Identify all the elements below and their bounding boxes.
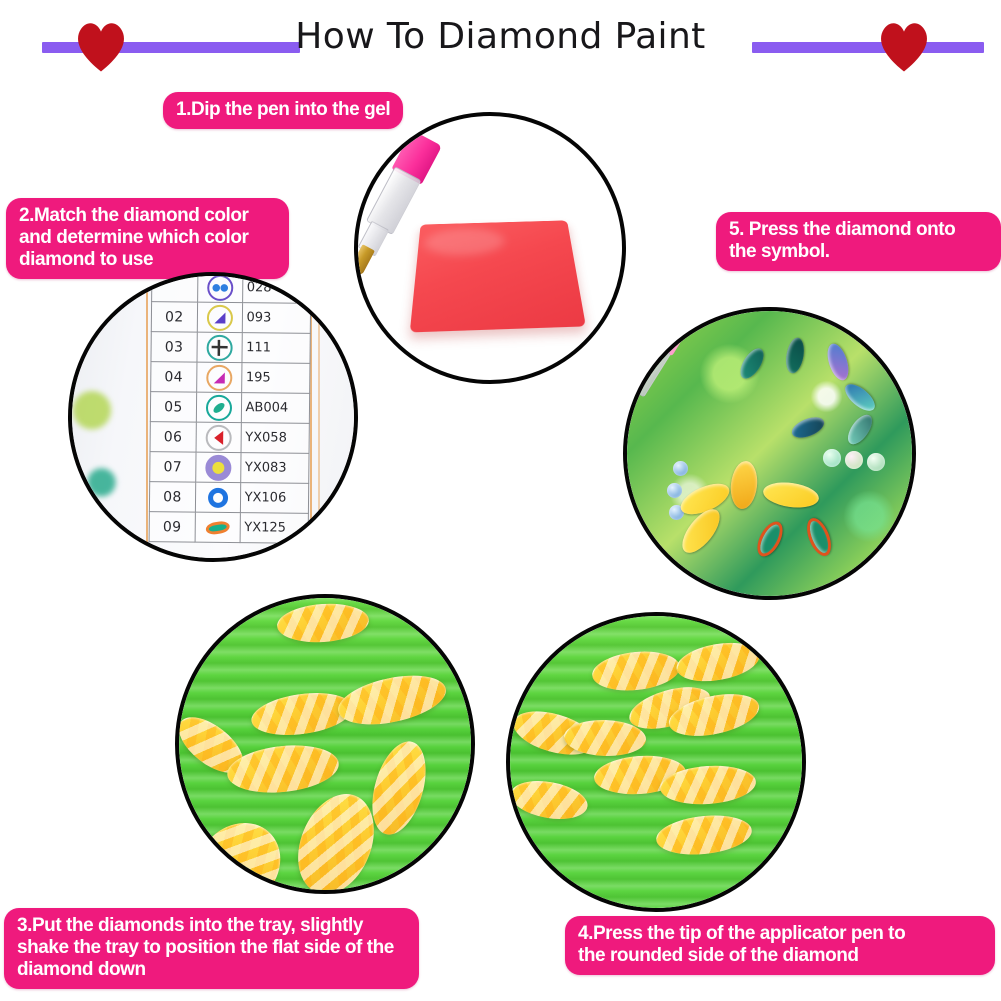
- leaf-teal-icon: [204, 514, 230, 540]
- step-2-line-3: diamond to use: [19, 249, 276, 271]
- header: How To Diamond Paint: [0, 0, 1001, 85]
- chart-number: [152, 276, 198, 302]
- step-3-label: 3.Put the diamonds into the tray, slight…: [4, 908, 419, 989]
- pen-tip: [358, 244, 375, 275]
- triangle-blue-icon: [206, 304, 232, 330]
- step-4-line-1: 4.Press the tip of the applicator pen to: [578, 923, 982, 945]
- oval-green-icon: [206, 394, 232, 420]
- diamond-color-chart-table: 028 02 093 03 111 04 19: [149, 276, 312, 544]
- step-5-photo: [623, 307, 916, 600]
- table-row: 02 093: [151, 302, 310, 334]
- chart-symbol-cell: [197, 302, 242, 332]
- chevron-red-icon: [205, 424, 231, 450]
- chart-code: YX106: [240, 483, 309, 514]
- chart-code: YX125: [240, 513, 309, 544]
- table-row: 028: [152, 276, 311, 303]
- gem-dot: [667, 483, 682, 498]
- chart-number: 05: [150, 392, 196, 422]
- plus-icon: [206, 334, 232, 360]
- chart-number: 07: [150, 452, 196, 482]
- page-title: How To Diamond Paint: [0, 16, 1001, 57]
- chart-symbol-cell: [195, 512, 240, 542]
- gem-dot: [823, 449, 841, 467]
- chart-code: 111: [242, 333, 311, 364]
- step-3-line-3: diamond down: [17, 959, 406, 981]
- ring-blue-icon: [205, 484, 231, 510]
- chart-symbol-cell: [195, 452, 240, 482]
- step-2-label: 2.Match the diamond color and determine …: [6, 198, 289, 279]
- step-2-photo: 028 02 093 03 111 04 19: [68, 272, 358, 562]
- step-1-label: 1.Dip the pen into the gel: [163, 92, 403, 129]
- step-3-line-2: shake the tray to position the flat side…: [17, 937, 406, 959]
- step-2-line-2: and determine which color: [19, 227, 276, 249]
- chart-symbol-cell: [196, 392, 241, 422]
- chart-code: YX058: [241, 423, 310, 454]
- step-1-photo-inner: [358, 116, 622, 380]
- chart-symbol-cell: [197, 332, 242, 362]
- chart-code: AB004: [241, 393, 310, 424]
- chart-symbol-cell: [196, 362, 241, 392]
- red-gel-pad: [410, 220, 586, 332]
- step-5-line-1: 5. Press the diamond onto: [729, 219, 988, 241]
- chart-number: 06: [150, 422, 196, 452]
- step-4-photo-inner: [510, 616, 802, 908]
- step-5-photo-inner: [627, 311, 912, 596]
- table-row: 04 195: [151, 362, 310, 394]
- step-4-line-2: the rounded side of the diamond: [578, 945, 982, 967]
- canvas-pattern-blur: [72, 376, 140, 558]
- step-3-photo: [175, 594, 475, 894]
- chart-rule-left: [146, 276, 148, 558]
- dot-purple-yellow-icon: [205, 454, 231, 480]
- chart-code: 028: [242, 276, 311, 303]
- table-row: 05 AB004: [150, 392, 309, 424]
- chart-symbol-cell: [197, 276, 242, 303]
- chart-number: 09: [149, 512, 195, 542]
- chart-number: 08: [149, 482, 195, 512]
- triangle-magenta-icon: [206, 364, 232, 390]
- table-row: 08 YX106: [149, 482, 308, 514]
- step-4-photo: [506, 612, 806, 912]
- chart-rule-right-2: [318, 276, 320, 558]
- chart-number: 04: [151, 362, 197, 392]
- chart-number: 02: [151, 302, 197, 332]
- gem-dot: [867, 453, 885, 471]
- chart-number: 03: [151, 332, 197, 362]
- table-row: 09 YX125: [149, 512, 308, 544]
- step-3-line-1: 3.Put the diamonds into the tray, slight…: [17, 915, 406, 937]
- step-1-line-1: 1.Dip the pen into the gel: [176, 99, 390, 121]
- chart-code: 093: [242, 303, 311, 334]
- step-4-label: 4.Press the tip of the applicator pen to…: [565, 916, 995, 975]
- chart-code: 195: [241, 363, 310, 394]
- how-to-diamond-paint-infographic: How To Diamond Paint 1.Dip the pen into …: [0, 0, 1001, 1001]
- chart-symbol-cell: [196, 422, 241, 452]
- chart-code: YX083: [240, 453, 309, 484]
- step-2-photo-inner: 028 02 093 03 111 04 19: [72, 276, 354, 558]
- step-1-photo: [354, 112, 626, 384]
- table-row: 07 YX083: [150, 452, 309, 484]
- chart-symbol-cell: [195, 482, 240, 512]
- table-row: 06 YX058: [150, 422, 309, 454]
- gem-dot: [673, 461, 688, 476]
- step-5-line-2: the symbol.: [729, 241, 988, 263]
- step-3-photo-inner: [179, 598, 471, 890]
- gem-dot: [845, 451, 863, 469]
- step-5-label: 5. Press the diamond onto the symbol.: [716, 212, 1001, 271]
- step-2-line-1: 2.Match the diamond color: [19, 205, 276, 227]
- table-row: 03 111: [151, 332, 310, 364]
- eyes-symbol-icon: [207, 276, 233, 301]
